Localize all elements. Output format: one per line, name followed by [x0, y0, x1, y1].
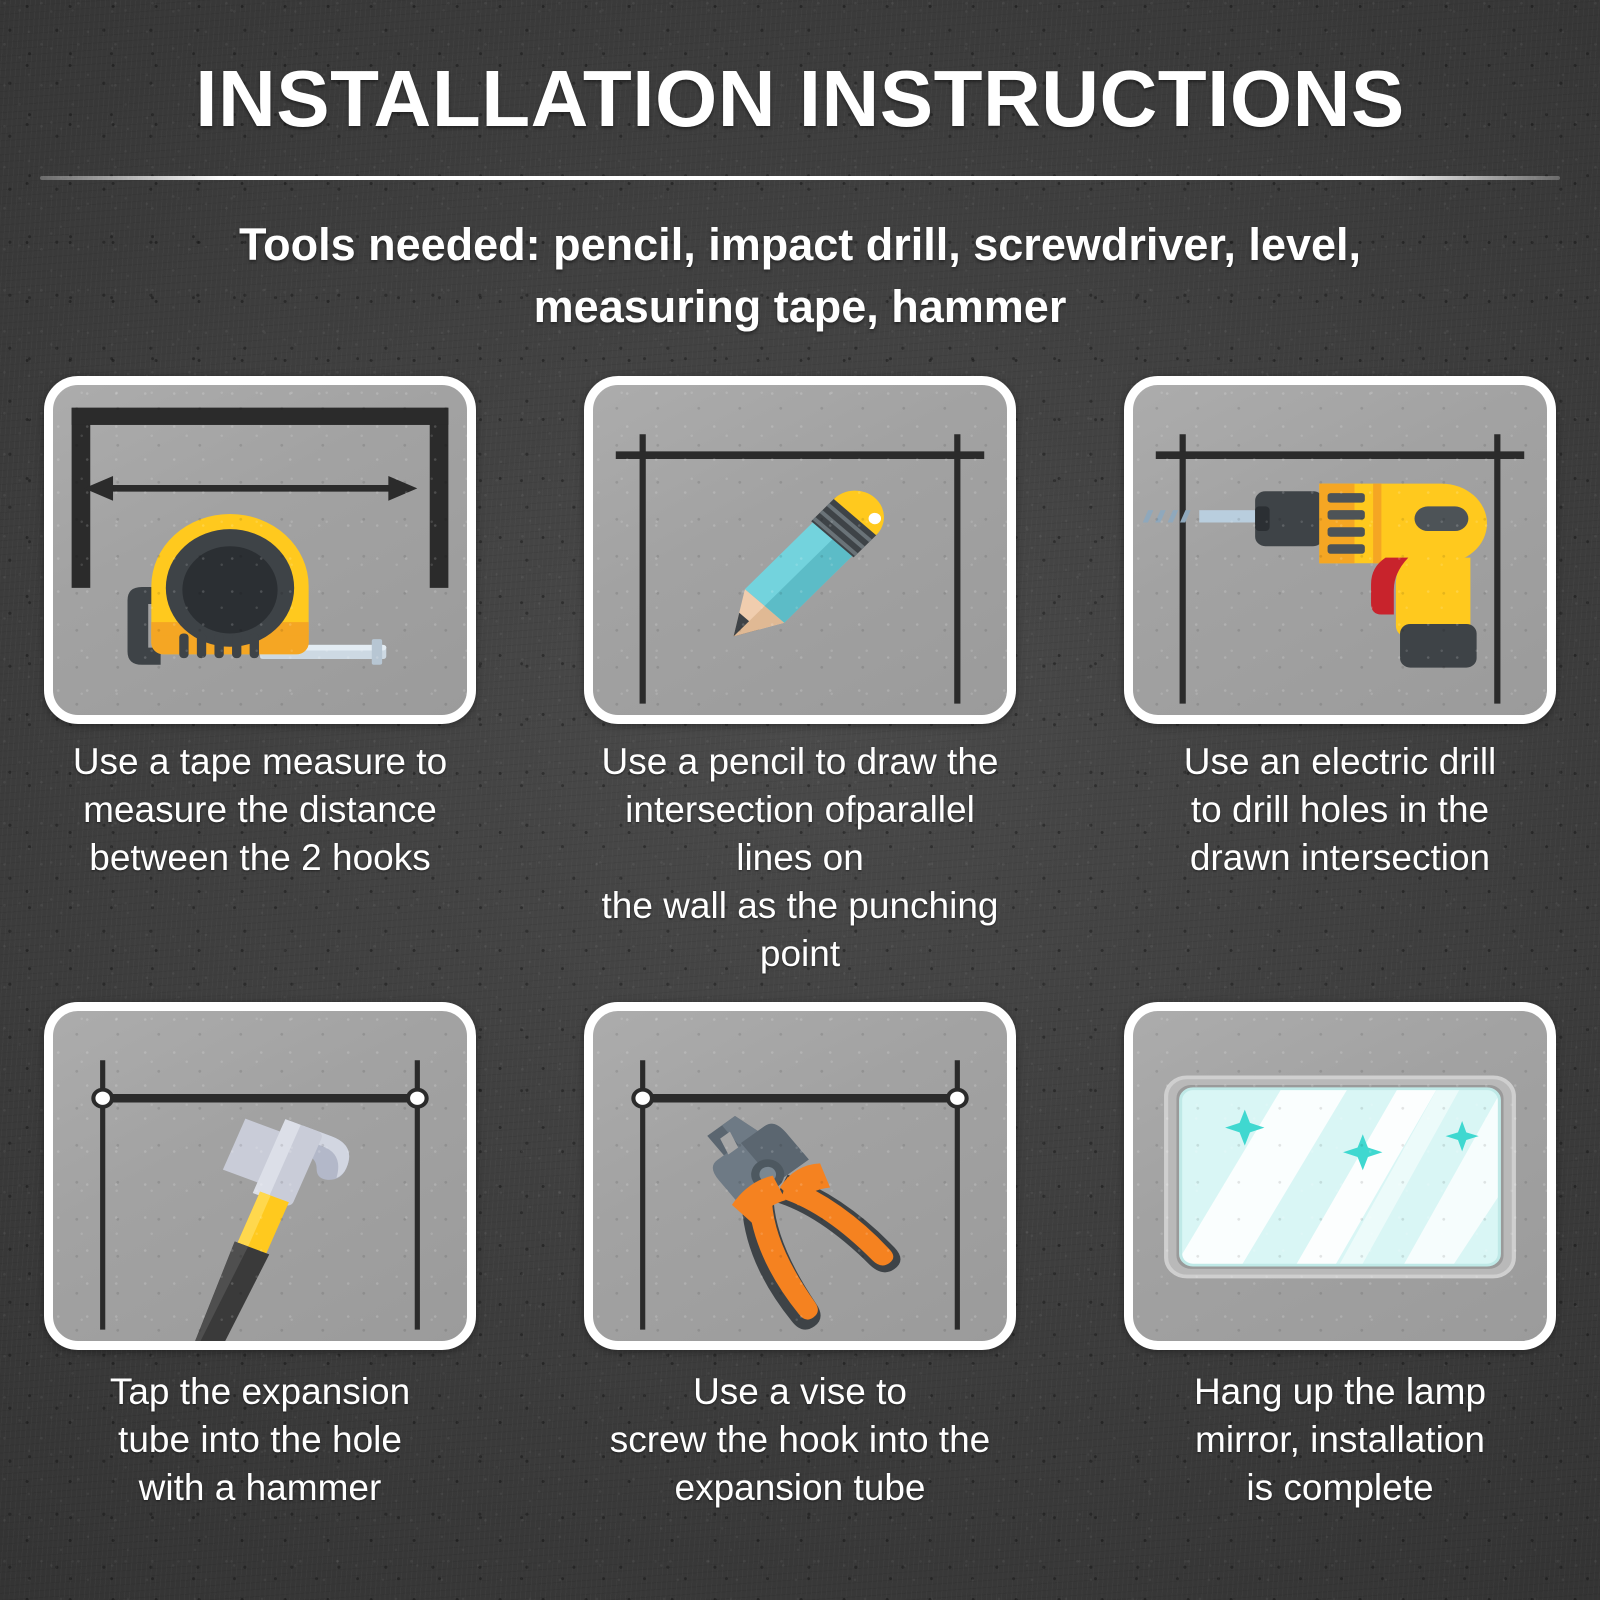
step-illustration-5	[584, 1002, 1016, 1350]
step-card-2[interactable]: Use a pencil to draw the intersection of…	[584, 376, 1016, 978]
step-caption-6: Hang up the lamp mirror, installation is…	[1124, 1368, 1556, 1512]
step-caption-3: Use an electric drill to drill holes in …	[1124, 738, 1556, 882]
tape-measure-icon	[53, 385, 467, 715]
step-card-3[interactable]: Use an electric drill to drill holes in …	[1124, 376, 1556, 978]
steps-grid: Use a tape measure to measure the distan…	[0, 376, 1600, 1513]
step-card-1[interactable]: Use a tape measure to measure the distan…	[44, 376, 476, 978]
infographic-page: INSTALLATION INSTRUCTIONS Tools needed: …	[0, 0, 1600, 1600]
tools-needed-text: Tools needed: pencil, impact drill, scre…	[145, 214, 1455, 338]
step-illustration-4	[44, 1002, 476, 1350]
step-illustration-6	[1124, 1002, 1556, 1350]
hammer-icon	[53, 1011, 467, 1341]
step-illustration-1	[44, 376, 476, 724]
step-card-4[interactable]: Tap the expansion tube into the hole wit…	[44, 1002, 476, 1512]
step-illustration-2	[584, 376, 1016, 724]
step-caption-4: Tap the expansion tube into the hole wit…	[44, 1368, 476, 1512]
step-caption-1: Use a tape measure to measure the distan…	[44, 738, 476, 882]
mirror-icon	[1133, 1011, 1547, 1341]
step-caption-2: Use a pencil to draw the intersection of…	[584, 738, 1016, 978]
pliers-icon	[593, 1011, 1007, 1341]
header: INSTALLATION INSTRUCTIONS Tools needed: …	[0, 0, 1600, 338]
step-card-5[interactable]: Use a vise to screw the hook into the ex…	[584, 1002, 1016, 1512]
pencil-icon	[593, 385, 1007, 715]
page-title: INSTALLATION INSTRUCTIONS	[0, 58, 1600, 140]
electric-drill-icon	[1133, 385, 1547, 715]
step-caption-5: Use a vise to screw the hook into the ex…	[584, 1368, 1016, 1512]
step-illustration-3	[1124, 376, 1556, 724]
step-card-6[interactable]: Hang up the lamp mirror, installation is…	[1124, 1002, 1556, 1512]
title-divider	[40, 176, 1560, 180]
